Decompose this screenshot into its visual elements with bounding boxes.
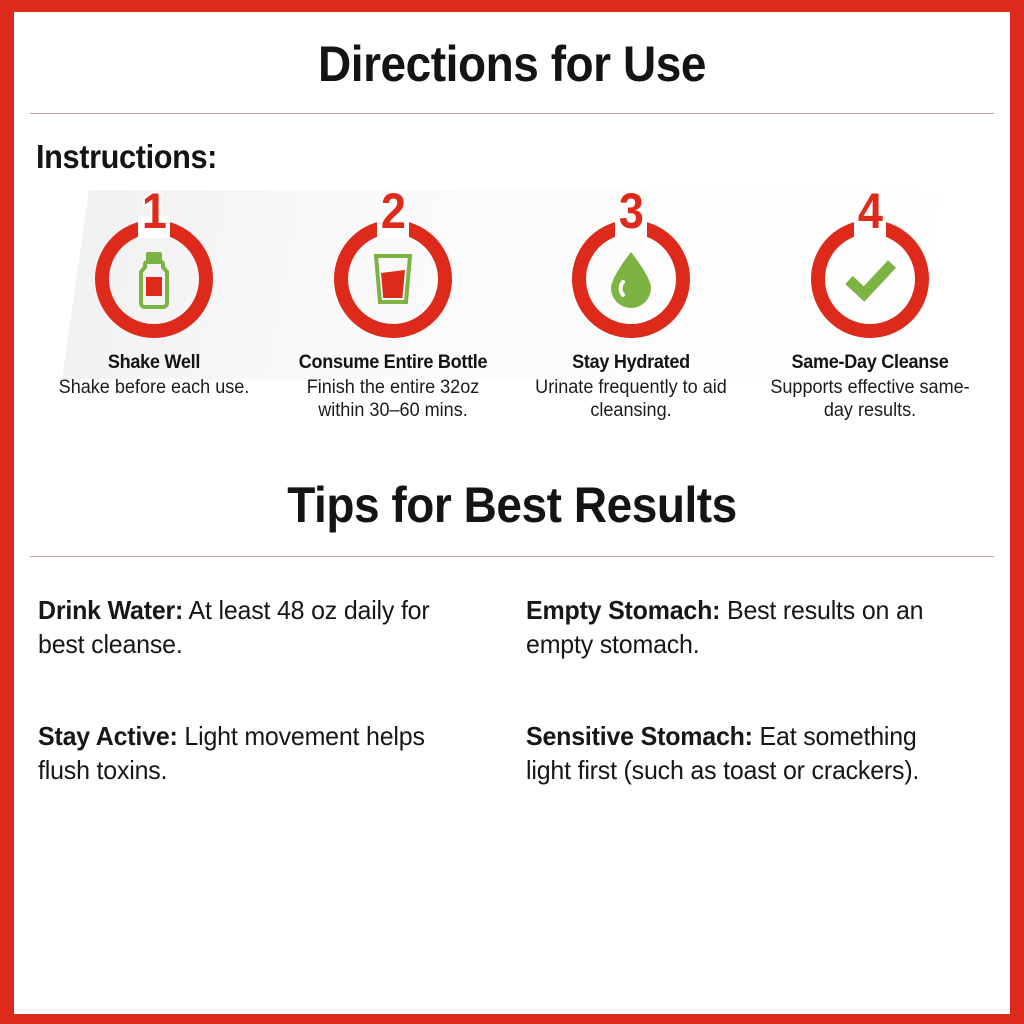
water-droplet-icon (598, 246, 664, 312)
step-1-number: 1 (95, 186, 214, 236)
tip-sensitive-stomach-label: Sensitive Stomach: (526, 721, 753, 751)
instructions-steps-section: 1 Shake Well Shake before each use. (14, 190, 1010, 470)
step-2-number: 2 (333, 186, 452, 236)
step-3-title: Stay Hydrated (523, 352, 740, 374)
checkmark-icon (837, 246, 903, 312)
bottle-icon (121, 246, 187, 312)
step-3-description: Urinate frequently to aid cleansing. (523, 376, 740, 422)
step-3-badge: 3 (565, 190, 697, 340)
step-4-description: Supports effective same-day results. (762, 376, 979, 422)
step-4: 4 Same-Day Cleanse Supports effective sa… (756, 190, 984, 422)
divider-tips (30, 556, 994, 557)
divider-top (30, 113, 994, 114)
tip-empty-stomach: Empty Stomach: Best results on an empty … (526, 593, 968, 662)
tip-sensitive-stomach: Sensitive Stomach: Eat something light f… (526, 719, 968, 788)
white-card: Directions for Use Instructions: 1 (14, 12, 1010, 1014)
step-1-description: Shake before each use. (46, 376, 263, 399)
step-1: 1 Shake Well Shake before each use. (40, 190, 268, 422)
step-2-title: Consume Entire Bottle (284, 352, 501, 374)
step-2-description: Finish the entire 32oz within 30–60 mins… (284, 376, 501, 422)
tip-drink-water-label: Drink Water: (38, 595, 183, 625)
tips-grid: Drink Water: At least 48 oz daily for be… (14, 557, 1010, 788)
step-4-number: 4 (811, 186, 930, 236)
tips-title: Tips for Best Results (54, 470, 970, 534)
tip-drink-water: Drink Water: At least 48 oz daily for be… (38, 593, 480, 662)
tip-stay-active-label: Stay Active: (38, 721, 178, 751)
step-2: 2 Consume Entire Bottle Finish the entir… (279, 190, 507, 422)
step-1-title: Shake Well (46, 352, 263, 374)
steps-row: 1 Shake Well Shake before each use. (14, 190, 1010, 422)
step-4-badge: 4 (804, 190, 936, 340)
instructions-heading: Instructions: (36, 138, 942, 176)
step-2-badge: 2 (327, 190, 459, 340)
step-1-badge: 1 (88, 190, 220, 340)
step-3: 3 Stay Hydrated Urinate frequently to ai… (517, 190, 745, 422)
tip-empty-stomach-label: Empty Stomach: (526, 595, 720, 625)
step-4-title: Same-Day Cleanse (762, 352, 979, 374)
directions-for-use-poster: Directions for Use Instructions: 1 (0, 0, 1024, 1024)
drinking-glass-icon (360, 246, 426, 312)
tip-stay-active: Stay Active: Light movement helps flush … (38, 719, 480, 788)
step-3-number: 3 (572, 186, 691, 236)
page-title: Directions for Use (54, 12, 970, 91)
